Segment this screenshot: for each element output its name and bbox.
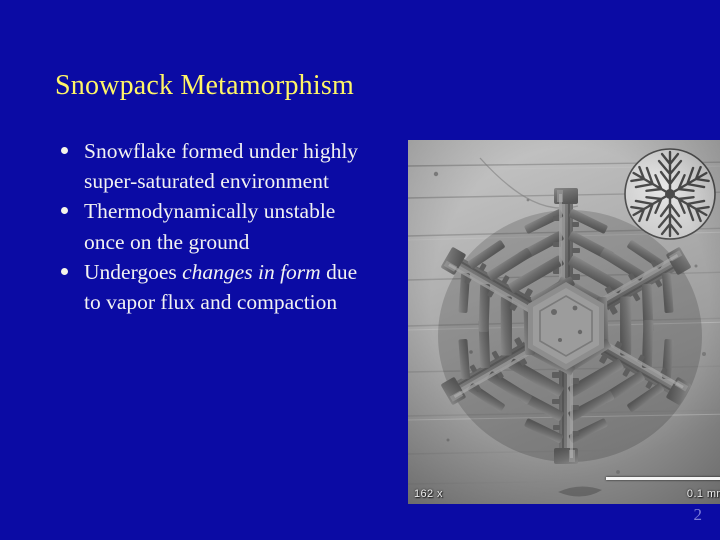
list-item-text: Thermodynamically unstable once on the g…	[84, 196, 362, 256]
list-item-text: Snowflake formed under highly super-satu…	[84, 136, 362, 196]
slide: Snowpack Metamorphism Snowflake formed u…	[0, 0, 720, 540]
list-item: Undergoes changes in form due to vapor f…	[52, 257, 362, 317]
scale-bar	[606, 477, 720, 480]
page-title: Snowpack Metamorphism	[55, 69, 655, 103]
list-item: Thermodynamically unstable once on the g…	[52, 196, 362, 256]
bullet-dot-icon	[61, 207, 68, 214]
bullet-dot-icon	[61, 268, 68, 275]
magnification-label: 162 x	[414, 488, 443, 500]
bullet-dot-icon	[61, 147, 68, 154]
list-item-text: Undergoes changes in form due to vapor f…	[84, 257, 362, 317]
bullet-list: Snowflake formed under highly super-satu…	[52, 136, 362, 317]
list-item-text-segment: Undergoes	[84, 260, 182, 284]
list-item: Snowflake formed under highly super-satu…	[52, 136, 362, 196]
page-number: 2	[694, 506, 703, 523]
snowflake-micrograph-image: 162 x 0.1 mm	[408, 140, 720, 504]
scale-bar-label: 0.1 mm	[687, 488, 720, 500]
list-item-text-emphasis: changes in form	[182, 260, 321, 284]
